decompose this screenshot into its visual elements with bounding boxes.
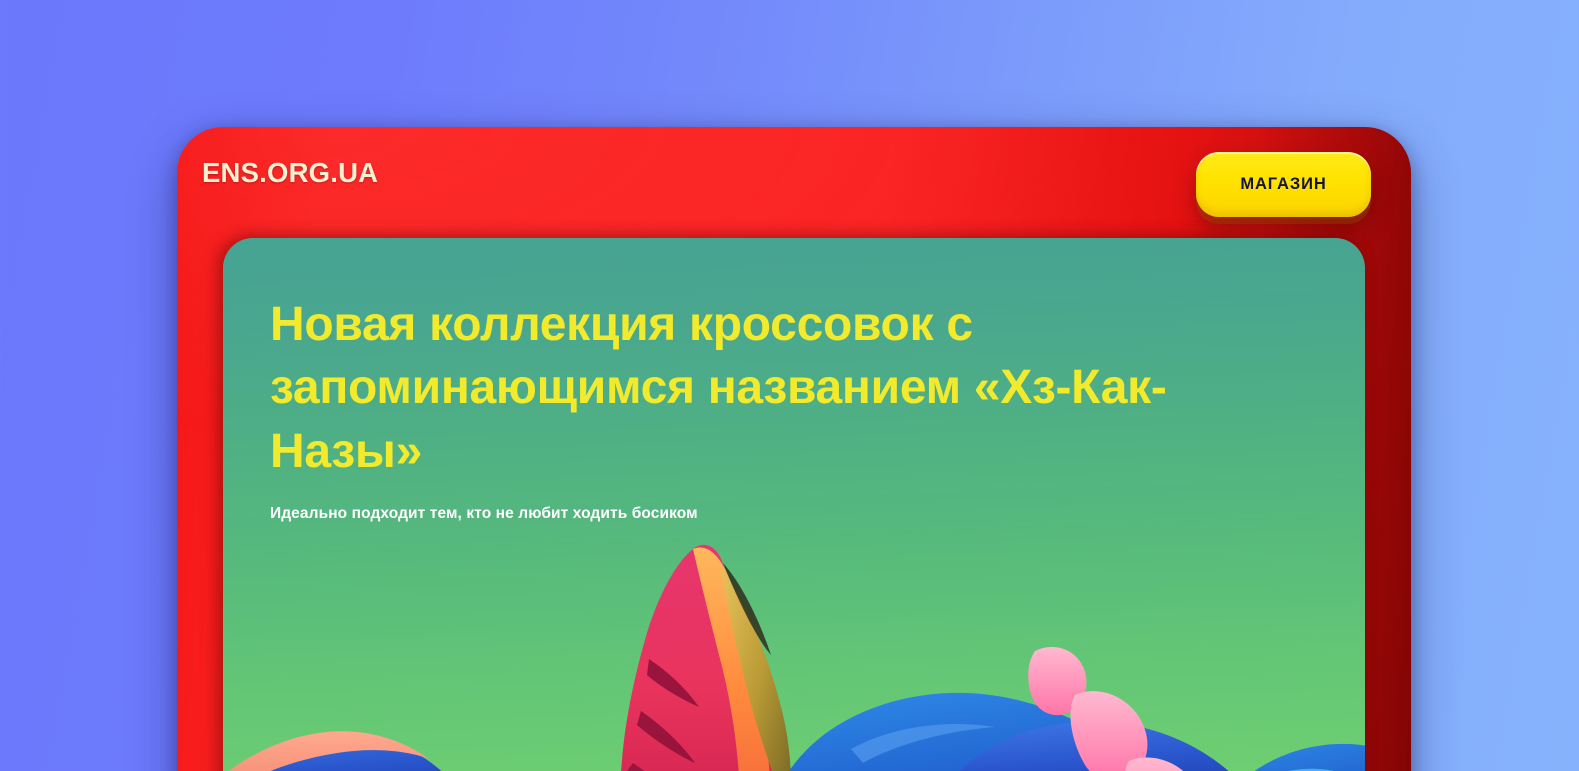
sneaker-photo [223, 535, 1365, 771]
hero-title: Новая коллекция кроссовок с запоминающим… [270, 293, 1260, 483]
site-logo[interactable]: ENS.ORG.UA [202, 157, 378, 189]
site-header: ENS.ORG.UA МАГАЗИН [177, 127, 1411, 238]
promo-card: ENS.ORG.UA МАГАЗИН Новая коллекция кросс… [177, 127, 1411, 771]
hero-subtitle: Идеально подходит тем, кто не любит ходи… [270, 505, 1260, 523]
hero-banner: Новая коллекция кроссовок с запоминающим… [223, 238, 1365, 771]
hero-copy-block: Новая коллекция кроссовок с запоминающим… [270, 293, 1260, 523]
shop-button[interactable]: МАГАЗИН [1196, 152, 1371, 217]
